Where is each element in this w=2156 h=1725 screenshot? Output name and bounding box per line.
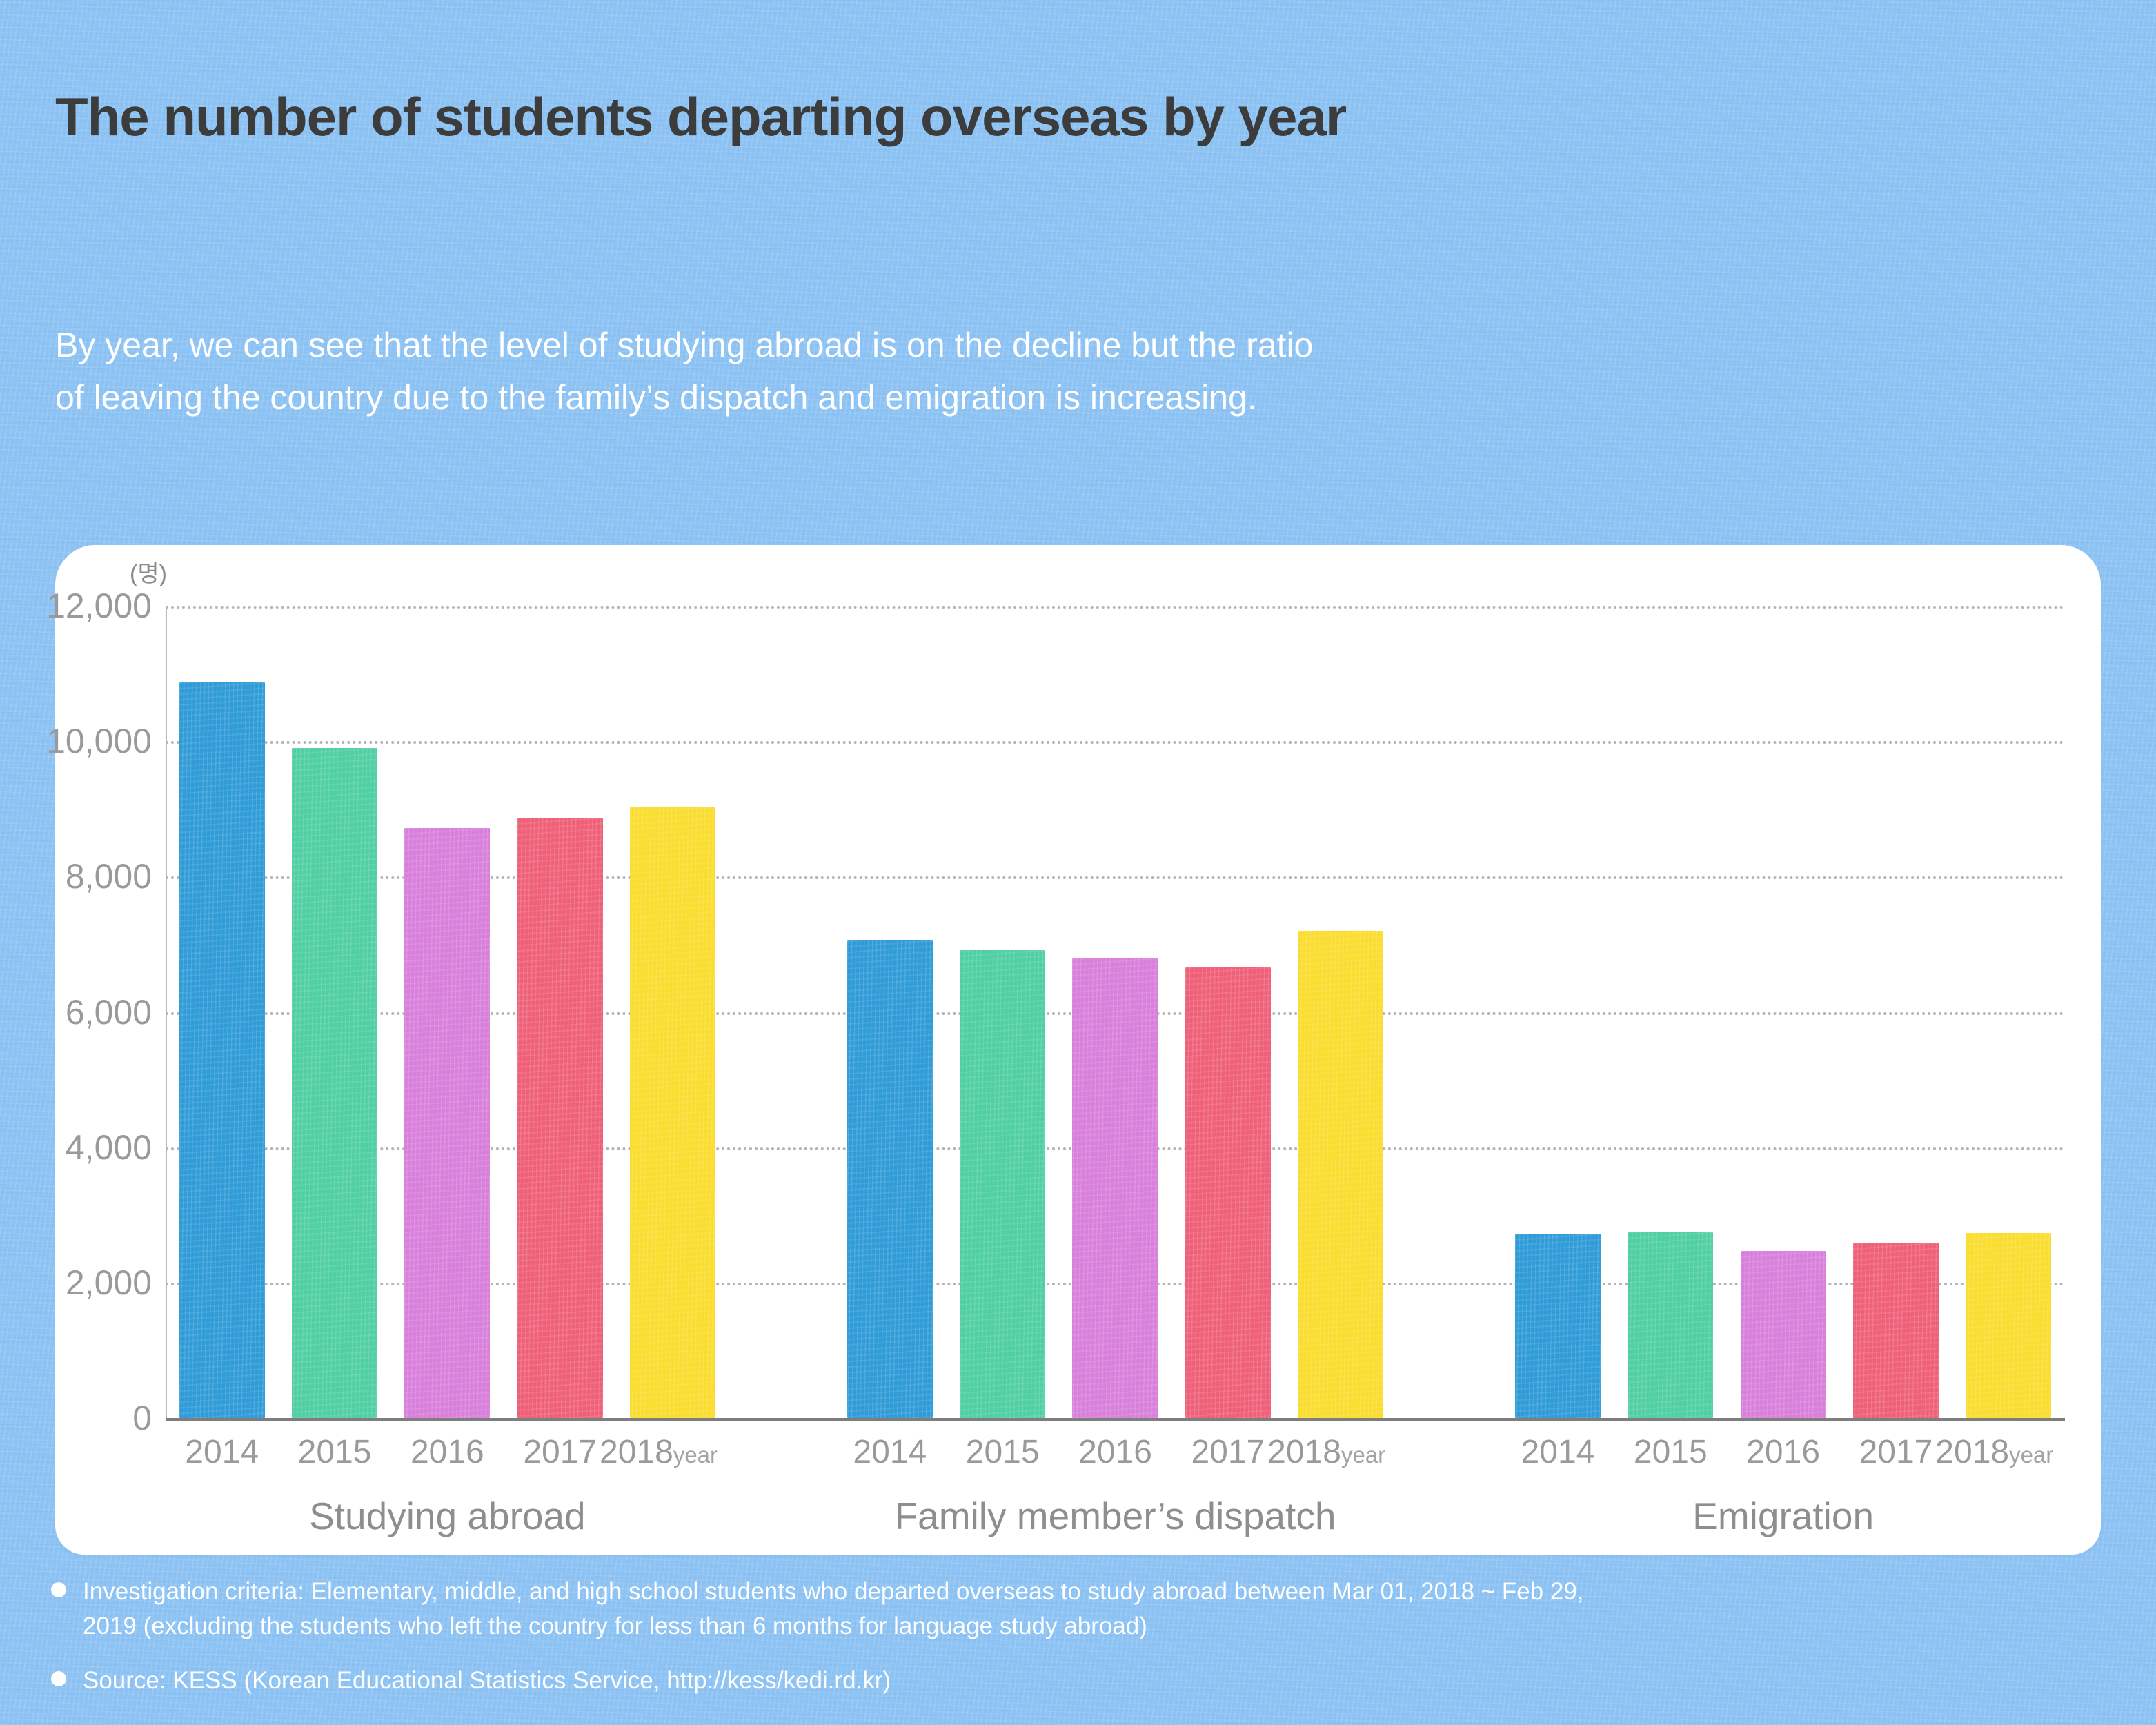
footnote-criteria: Investigation criteria: Elementary, midd… (51, 1575, 2121, 1643)
bullet-icon (51, 1582, 66, 1597)
footnote-source-line-1: Source: KESS (Korean Educational Statist… (83, 1667, 891, 1694)
page-title: The number of students departing oversea… (55, 86, 1346, 148)
subtitle: By year, we can see that the level of st… (55, 319, 2056, 424)
group-label-1: Studying abroad (309, 1494, 586, 1538)
y-axis-tick-8000: 8,000 (66, 856, 152, 896)
group-labels: Studying abroadFamily member’s dispatchE… (166, 545, 2065, 1555)
subtitle-line-2: of leaving the country due to the family… (55, 371, 2056, 424)
footnote-source: Source: KESS (Korean Educational Statist… (51, 1664, 2121, 1698)
y-axis-tick-0: 0 (132, 1398, 152, 1438)
footnote-criteria-line-1: Investigation criteria: Elementary, midd… (83, 1578, 1584, 1605)
y-axis-tick-2000: 2,000 (66, 1263, 152, 1303)
footnote-criteria-line-2: 2019 (excluding the students who left th… (83, 1609, 2121, 1644)
chart-card: (명) 02,0004,0006,0008,00010,00012,000 20… (55, 545, 2101, 1555)
y-axis-tick-6000: 6,000 (66, 992, 152, 1032)
y-axis-tick-4000: 4,000 (66, 1127, 152, 1167)
subtitle-line-1: By year, we can see that the level of st… (55, 319, 2056, 371)
group-label-2: Family member’s dispatch (895, 1494, 1336, 1538)
footnotes: Investigation criteria: Elementary, midd… (51, 1575, 2121, 1719)
group-label-3: Emigration (1692, 1494, 1874, 1538)
bullet-icon (51, 1671, 66, 1686)
y-axis-tick-labels: 02,0004,0006,0008,00010,00012,000 (55, 545, 152, 1555)
y-axis-tick-12000: 12,000 (46, 586, 152, 626)
y-axis-tick-10000: 10,000 (46, 721, 152, 761)
bar-chart-plot: (명) 02,0004,0006,0008,00010,00012,000 20… (55, 545, 2101, 1555)
